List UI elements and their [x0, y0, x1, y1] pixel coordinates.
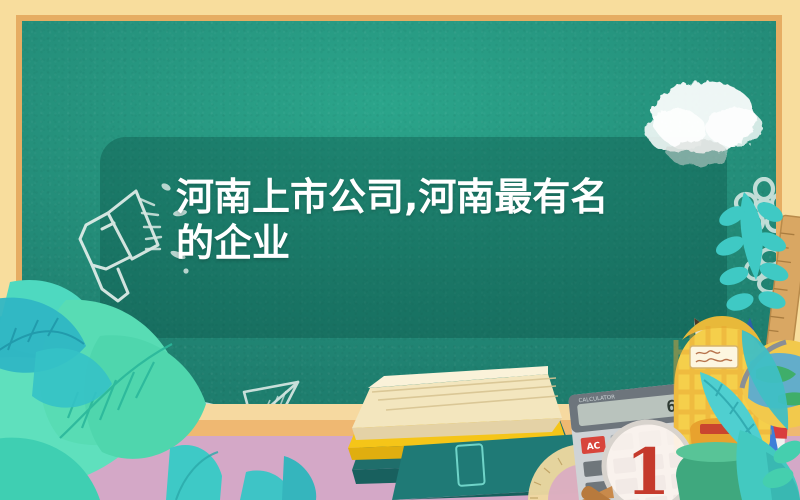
svg-text:AC: AC [586, 441, 601, 452]
poster-root: 64 CALCULATOR AC [0, 0, 800, 500]
svg-text:1: 1 [626, 435, 671, 500]
page-title: 河南上市公司,河南最有名的企业 [176, 174, 646, 266]
